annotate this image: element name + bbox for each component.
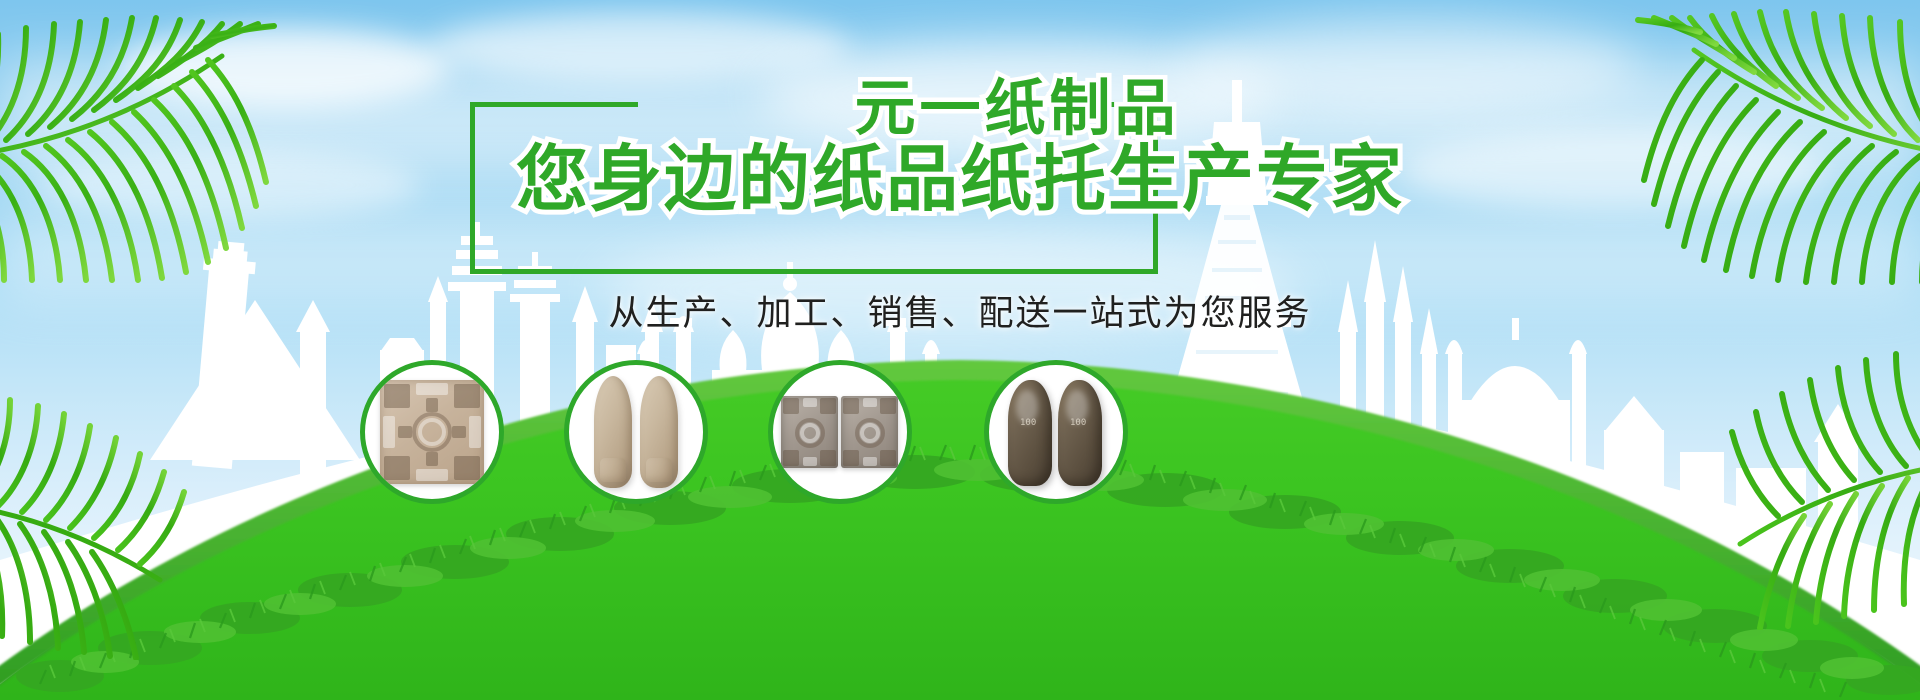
- molded-pulp-double-tray: [781, 396, 899, 468]
- molded-pulp-square-tray: [380, 380, 484, 484]
- product-circle-3[interactable]: [768, 360, 912, 504]
- banner-root: 元一纸制品 您身边的纸品纸托生产专家 从生产、加工、销售、配送一站式为您服务: [0, 0, 1920, 700]
- paper-pulp-shoe-tree-pair: 100 100: [1000, 372, 1112, 492]
- paper-pulp-insole-pair: [584, 372, 688, 492]
- product-circle-2[interactable]: [564, 360, 708, 504]
- product-circles: 100 100: [0, 0, 1920, 700]
- product-circle-1[interactable]: [360, 360, 504, 504]
- product-circle-4[interactable]: 100 100: [984, 360, 1128, 504]
